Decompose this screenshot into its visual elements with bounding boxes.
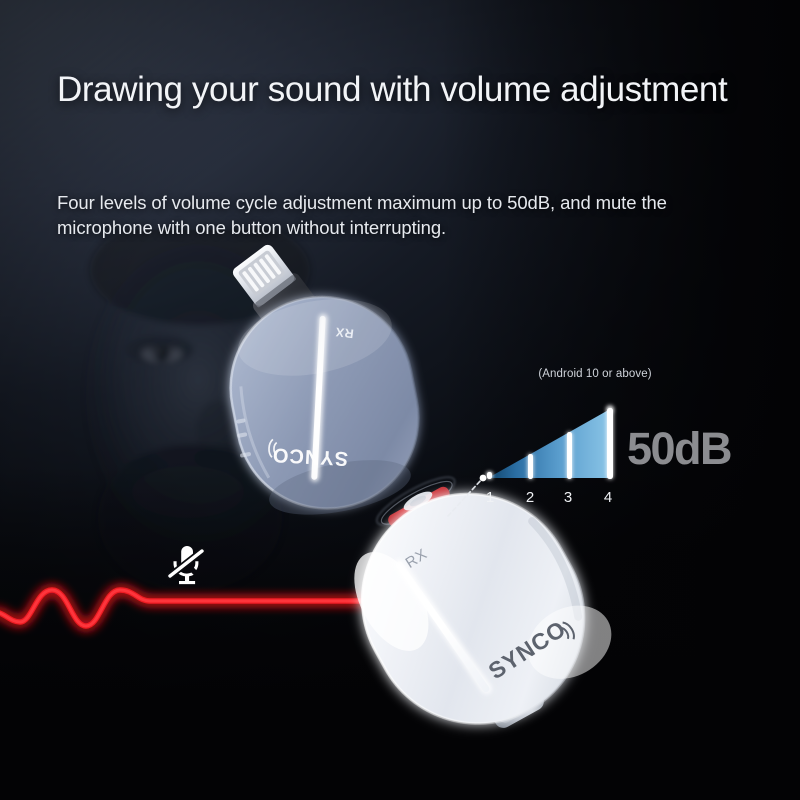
page-title: Drawing your sound with volume adjustmen… xyxy=(57,70,747,110)
gray-device-brand: SYNCO xyxy=(271,443,348,469)
product-feature-image: Drawing your sound with volume adjustmen… xyxy=(0,0,800,800)
microphone-muted-icon xyxy=(163,541,211,589)
volume-level-label-2: 2 xyxy=(518,490,542,505)
android-compat-note: (Android 10 or above) xyxy=(462,368,728,380)
page-subtitle: Four levels of volume cycle adjustment m… xyxy=(57,190,757,240)
volume-level-label-3: 3 xyxy=(556,490,580,505)
volume-level-label-1: 1 xyxy=(478,490,502,505)
db-value-label: 50dB xyxy=(627,423,731,475)
gray-device-rx-label: RX xyxy=(334,325,354,341)
volume-level-label-4: 4 xyxy=(596,490,620,505)
